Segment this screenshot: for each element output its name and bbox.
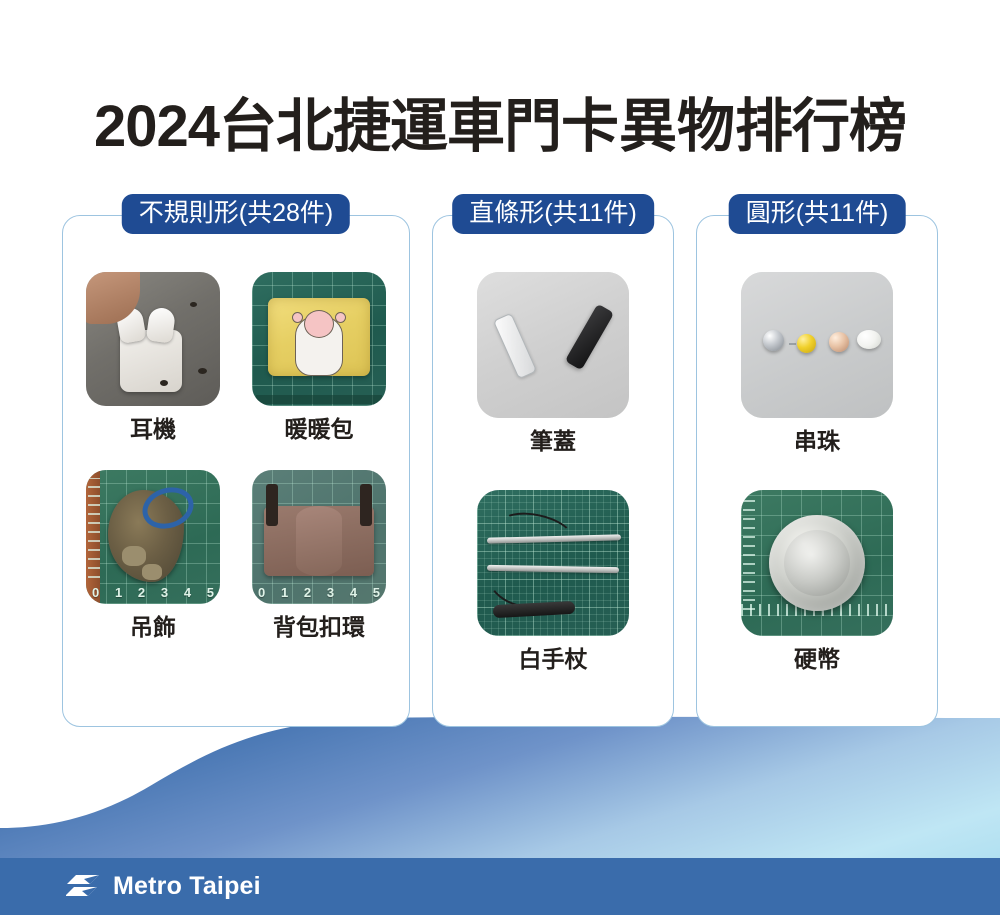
category-badge-straight-bar: 直條形(共11件) xyxy=(452,194,654,234)
photo-beads xyxy=(741,272,893,418)
category-badge-round: 圓形(共11件) xyxy=(729,194,906,234)
footer-bar: Metro Taipei xyxy=(0,858,1000,915)
list-item-label: 筆蓋 xyxy=(530,429,576,454)
metro-taipei-logo-icon xyxy=(66,874,100,900)
list-item-label: 白手杖 xyxy=(519,647,588,672)
brand: Metro Taipei xyxy=(66,874,261,900)
photo-coin xyxy=(741,490,893,636)
list-item[interactable]: 012345 吊飾 xyxy=(86,470,220,640)
category-badge-irregular: 不規則形(共28件) xyxy=(122,194,350,234)
list-item[interactable]: 串珠 xyxy=(741,272,893,454)
page-title-prefix: 2024台北捷運車門 xyxy=(94,94,561,159)
category-card-round: 圓形(共11件) 串珠 xyxy=(696,215,938,727)
list-item-label: 串珠 xyxy=(794,429,840,454)
page-title-wrap: 2024台北捷運車門卡異物排行榜 xyxy=(0,58,1000,197)
page-title-suffix: 排行榜 xyxy=(735,94,906,159)
items-grid-irregular: 耳機 暖暖包 xyxy=(63,258,409,641)
page-title: 2024台北捷運車門卡異物排行榜 xyxy=(94,97,906,158)
page-title-emphasis: 卡異物 xyxy=(561,94,735,159)
category-card-irregular: 不規則形(共28件) 耳機 xyxy=(62,215,410,727)
category-columns: 不規則形(共28件) 耳機 xyxy=(0,215,1000,735)
photo-hand-warmer xyxy=(252,272,386,406)
photo-earphones xyxy=(86,272,220,406)
infographic-page: { "title": { "normal_prefix": "2024台北捷運車… xyxy=(0,0,1000,915)
photo-pen-cap xyxy=(477,272,629,418)
category-card-straight-bar: 直條形(共11件) 筆蓋 xyxy=(432,215,674,727)
list-item-label: 吊飾 xyxy=(130,615,176,640)
photo-white-cane xyxy=(477,490,629,636)
list-item[interactable]: 白手杖 xyxy=(477,490,629,672)
list-item[interactable]: 暖暖包 xyxy=(252,272,386,442)
list-item[interactable]: 筆蓋 xyxy=(477,272,629,454)
brand-name: Metro Taipei xyxy=(113,874,261,899)
items-grid-straight-bar: 筆蓋 白手杖 xyxy=(433,258,673,673)
photo-charm: 012345 xyxy=(86,470,220,604)
photo-backpack-buckle: 012345 xyxy=(252,470,386,604)
list-item[interactable]: 耳機 xyxy=(86,272,220,442)
list-item-label: 背包扣環 xyxy=(273,615,365,640)
list-item-label: 硬幣 xyxy=(794,647,840,672)
items-grid-round: 串珠 硬幣 xyxy=(697,258,937,673)
list-item-label: 暖暖包 xyxy=(285,417,354,442)
list-item[interactable]: 012345 背包扣環 xyxy=(252,470,386,640)
list-item[interactable]: 硬幣 xyxy=(741,490,893,672)
list-item-label: 耳機 xyxy=(130,417,176,442)
